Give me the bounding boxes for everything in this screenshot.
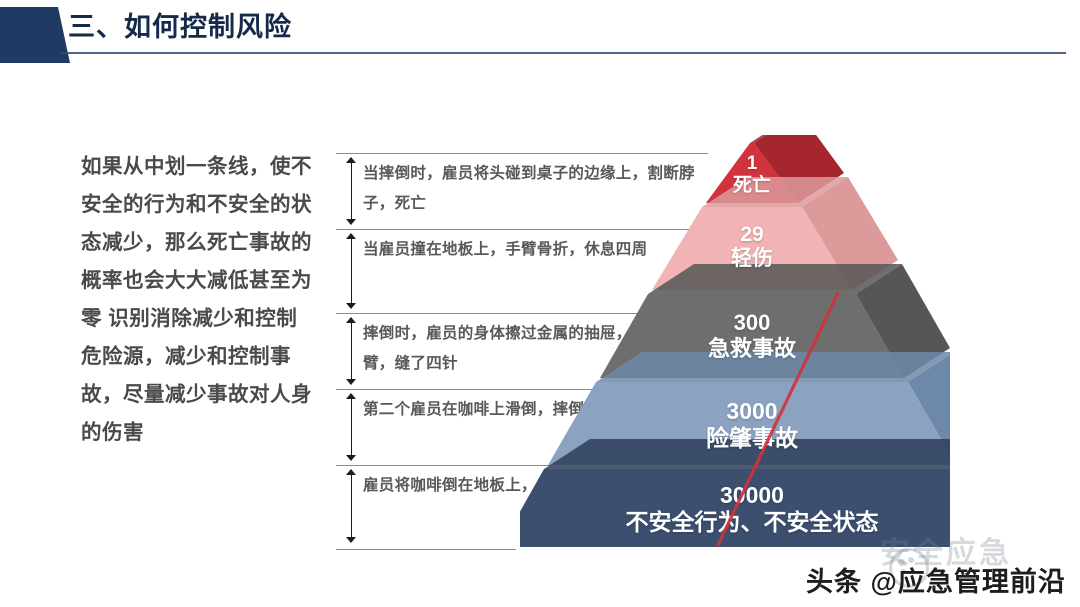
header-divider (60, 52, 1066, 54)
tier-nearmiss-name: 险肇事故 (520, 425, 984, 452)
tier-minor-count: 29 (520, 223, 984, 248)
tier-fatality-count: 1 (520, 153, 984, 175)
tier-nearmiss-label: 3000险肇事故 (520, 398, 984, 452)
tier-fatality-name: 死亡 (520, 175, 984, 197)
body-paragraph: 如果从中划一条线，使不安全的行为和不安全的状态减少，那么死亡事故的概率也会大大减… (81, 148, 313, 452)
accident-pyramid: 1死亡29轻伤300急救事故3000险肇事故30000不安全行为、不安全状态 (520, 135, 950, 550)
tier-minor-name: 轻伤 (520, 247, 984, 272)
tier-fatality-label: 1死亡 (520, 153, 984, 198)
double-arrow-icon (346, 157, 357, 225)
watermark-text: 头条 @应急管理前沿 (806, 560, 1066, 599)
annotation-divider (336, 549, 516, 550)
double-arrow-icon (346, 317, 357, 385)
tier-unsafe-count: 30000 (520, 482, 984, 509)
double-arrow-icon (346, 393, 357, 461)
annotation-divider (336, 465, 551, 466)
page-title: 三、如何控制风险 (68, 10, 292, 44)
double-arrow-icon (346, 469, 357, 543)
tier-firstaid-count: 300 (520, 310, 984, 336)
slide-canvas: 三、如何控制风险 如果从中划一条线，使不安全的行为和不安全的状态减少，那么死亡事… (0, 0, 1080, 607)
double-arrow-icon (346, 233, 357, 309)
tier-firstaid-name: 急救事故 (520, 336, 984, 362)
tier-firstaid-label: 300急救事故 (520, 310, 984, 362)
tier-minor-label: 29轻伤 (520, 223, 984, 273)
tier-nearmiss-count: 3000 (520, 398, 984, 425)
section-marker-icon (0, 7, 70, 63)
